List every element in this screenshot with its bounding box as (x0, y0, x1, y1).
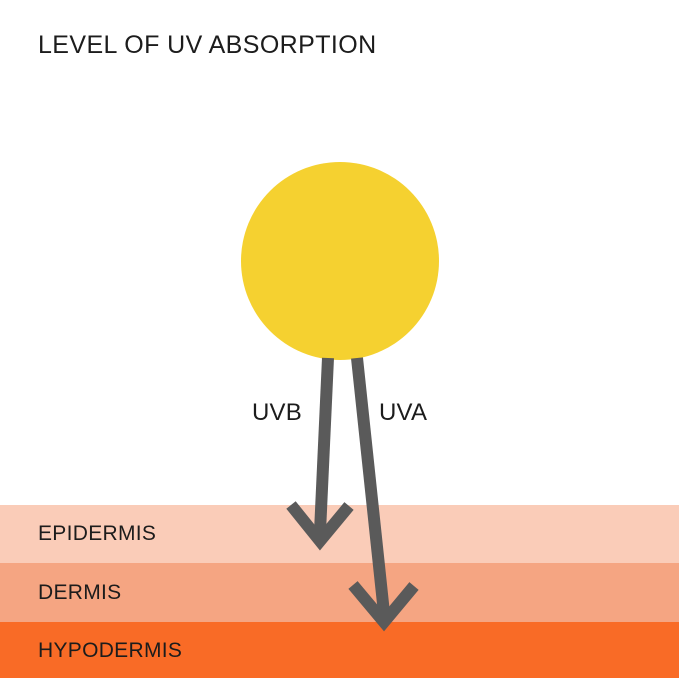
uva-ray-shaft (357, 358, 384, 613)
uvb-ray-arrow (291, 358, 349, 541)
uv-absorption-diagram: LEVEL OF UV ABSORPTION EPIDERMIS DERMIS … (0, 0, 679, 678)
sun-icon (241, 162, 439, 360)
uvb-label: UVB (252, 399, 302, 427)
uva-ray-arrow (353, 358, 414, 622)
uv-rays-graphic (0, 0, 679, 678)
uvb-ray-shaft (320, 358, 328, 532)
uva-label: UVA (379, 399, 427, 427)
